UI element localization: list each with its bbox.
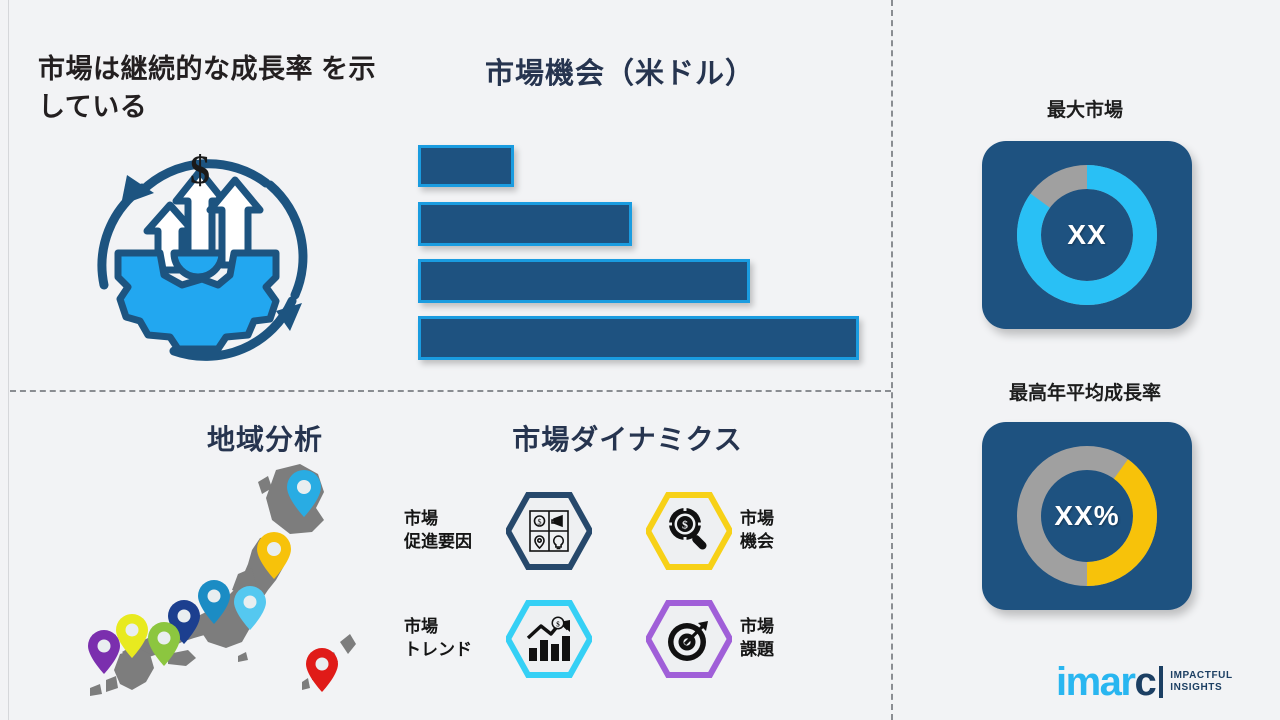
- horizontal-dashed-divider: [10, 390, 891, 392]
- highest-cagr-value: XX%: [982, 422, 1192, 610]
- bar-item: [418, 259, 750, 303]
- highest-cagr-card: XX%: [982, 422, 1192, 610]
- growth-panel-title: 市場は継続的な成長率 を示している: [38, 50, 388, 127]
- dynamics-item-challenges[interactable]: 市場 課題: [646, 600, 836, 678]
- dynamics-label-drivers: 市場 促進要因: [404, 508, 500, 554]
- dynamics-item-trends[interactable]: 市場 トレンド $: [404, 600, 592, 678]
- growth-cycle-gear-icon: $: [70, 135, 330, 365]
- highest-cagr-title: 最高年平均成長率: [950, 378, 1220, 405]
- dynamics-label-opportunities: 市場 機会: [740, 508, 836, 554]
- logo-divider: [1159, 666, 1163, 698]
- logo-tagline-line1: IMPACTFUL: [1170, 670, 1232, 683]
- opportunity-panel-title: 市場機会（米ドル）: [420, 50, 820, 92]
- logo-tagline-line2: INSIGHTS: [1170, 682, 1232, 695]
- logo-word-accent: c: [1135, 660, 1156, 704]
- dynamics-item-opportunities[interactable]: $ 市場 機会: [646, 492, 836, 570]
- dynamics-label-challenges: 市場 課題: [740, 616, 836, 662]
- svg-text:$: $: [682, 518, 688, 532]
- bar-item: [418, 202, 632, 246]
- japan-map: [62, 462, 382, 702]
- opportunity-bar-chart: [418, 145, 888, 350]
- regional-panel-title: 地域分析: [135, 418, 395, 458]
- largest-market-card: XX: [982, 141, 1192, 329]
- pin-okinawa: [306, 648, 338, 692]
- hex-drivers-shape: $: [506, 492, 592, 570]
- dollar-symbol: $: [190, 147, 210, 192]
- largest-market-value: XX: [982, 141, 1192, 329]
- svg-text:$: $: [538, 518, 542, 527]
- dynamics-panel-title: 市場ダイナミクス: [455, 418, 800, 458]
- largest-market-title: 最大市場: [960, 95, 1210, 122]
- hex-opportunities-shape: $: [646, 492, 732, 570]
- hex-challenges-shape: [646, 600, 732, 678]
- hex-trends-shape: $: [506, 600, 592, 678]
- left-edge-rule: [8, 0, 9, 720]
- vertical-dashed-divider: [891, 0, 893, 720]
- imarc-logo: imarc IMPACTFUL INSIGHTS: [1056, 662, 1233, 702]
- bar-item: [418, 316, 859, 360]
- dynamics-label-trends: 市場 トレンド: [404, 616, 500, 662]
- logo-word-primary: imar: [1056, 660, 1135, 704]
- infographic-slide: 市場は継続的な成長率 を示している $ 市: [0, 0, 1280, 720]
- svg-text:$: $: [556, 620, 560, 628]
- dynamics-item-drivers[interactable]: 市場 促進要因 $: [404, 492, 592, 570]
- bar-item: [418, 145, 514, 187]
